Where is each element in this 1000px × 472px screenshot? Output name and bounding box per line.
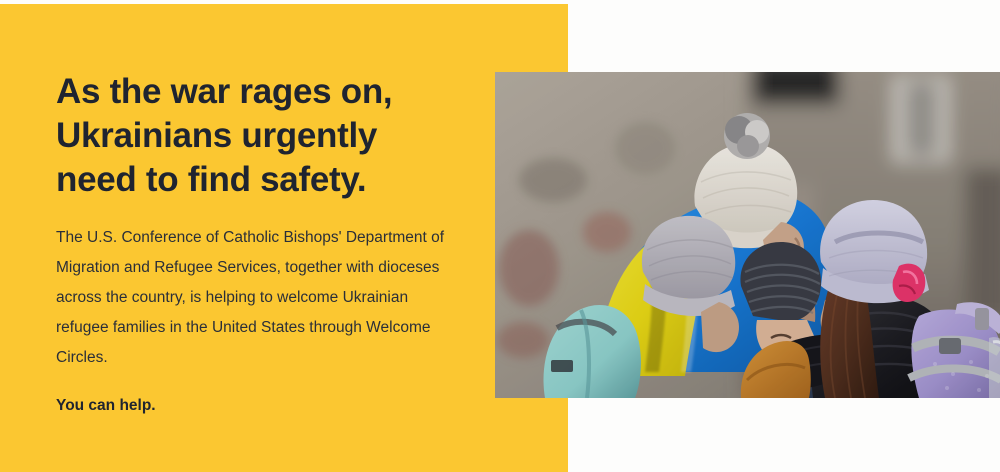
promo-banner: As the war rages on, Ukrainians urgently…	[0, 0, 1000, 472]
page-title: As the war rages on, Ukrainians urgently…	[56, 70, 456, 202]
call-to-action-text: You can help.	[56, 394, 456, 418]
yellow-content-panel: As the war rages on, Ukrainians urgently…	[0, 4, 568, 472]
copy-block: As the war rages on, Ukrainians urgently…	[56, 70, 456, 418]
hero-photo	[495, 72, 1000, 398]
refugees-embracing-photo-illustration	[495, 72, 1000, 398]
body-paragraph: The U.S. Conference of Catholic Bishops'…	[56, 223, 448, 373]
